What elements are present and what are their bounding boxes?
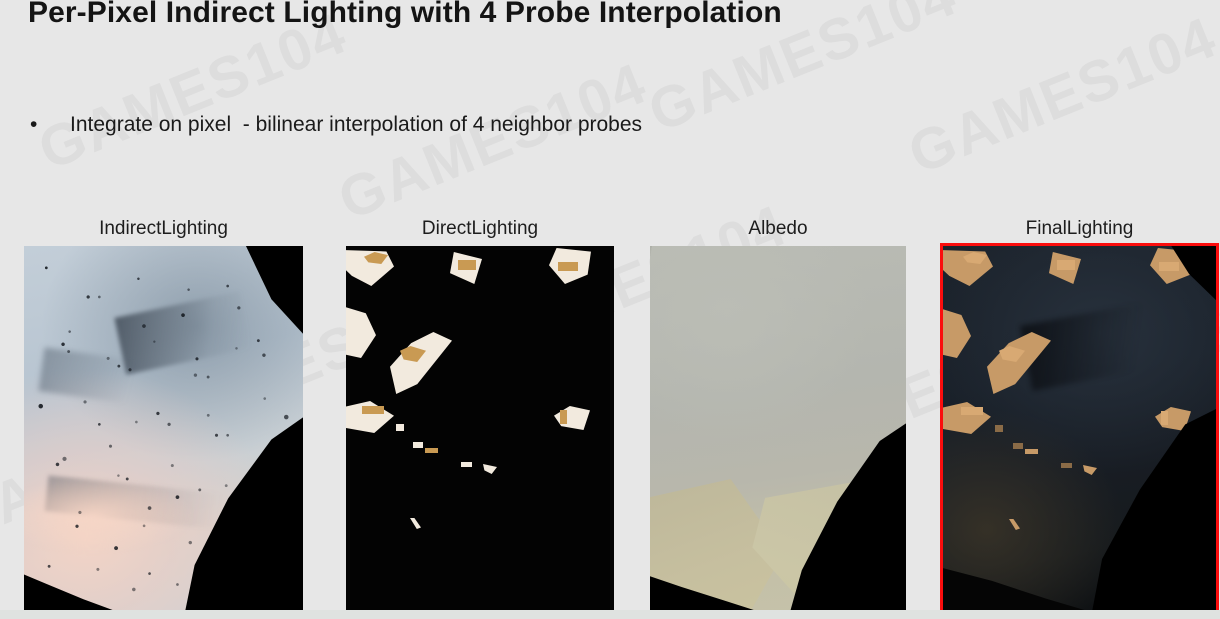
- specular-highlight: [410, 518, 421, 529]
- lit-patch: [1025, 449, 1038, 454]
- render-target-thumbnail-indirect-lighting: [24, 246, 303, 610]
- render-target-thumbnail-final-lighting: [943, 246, 1216, 610]
- lit-patch: [1061, 463, 1072, 468]
- slide-title: Per-Pixel Indirect Lighting with 4 Probe…: [28, 0, 782, 30]
- specular-highlight: [461, 462, 472, 467]
- panel-albedo[interactable]: Albedo: [650, 246, 906, 610]
- panel-caption: Albedo: [650, 218, 906, 240]
- panel-caption: FinalLighting: [943, 218, 1216, 240]
- slide-canvas: GAMES104 GAMES104 GAMES104 GAMES104 GAME…: [0, 0, 1220, 619]
- lit-patch: [1159, 262, 1179, 271]
- panel-caption: IndirectLighting: [24, 218, 303, 240]
- lit-patch: [1161, 411, 1168, 425]
- panel-indirect-lighting[interactable]: IndirectLighting: [24, 246, 303, 610]
- slide-bottom-band: [0, 610, 1220, 619]
- specular-highlight: [558, 262, 578, 271]
- specular-highlight: [413, 442, 423, 448]
- panel-direct-lighting[interactable]: DirectLighting: [346, 246, 614, 610]
- specular-highlight: [560, 410, 567, 424]
- render-target-thumbnail-direct-lighting: [346, 246, 614, 610]
- watermark-text: GAMES104: [899, 3, 1220, 187]
- specular-highlight: [362, 406, 384, 414]
- bullet-marker-icon: •: [30, 114, 48, 135]
- render-target-thumbnail-albedo: [650, 246, 906, 610]
- specular-highlight: [425, 448, 438, 453]
- watermark-text: GAMES104: [329, 49, 656, 233]
- specular-highlight: [396, 424, 404, 431]
- bullet-text: Integrate on pixel - bilinear interpolat…: [70, 113, 642, 137]
- specular-highlight: [458, 260, 476, 270]
- specular-highlight: [346, 306, 376, 358]
- lit-patch: [1013, 443, 1023, 449]
- lit-patch: [961, 407, 983, 415]
- specular-highlight: [483, 464, 497, 474]
- specular-highlight: [390, 332, 452, 394]
- bullet-list-item: • Integrate on pixel - bilinear interpol…: [30, 113, 642, 137]
- panel-caption: DirectLighting: [346, 218, 614, 240]
- panel-final-lighting[interactable]: FinalLighting: [943, 246, 1216, 610]
- lit-patch: [995, 425, 1003, 432]
- lit-patch: [1057, 260, 1075, 270]
